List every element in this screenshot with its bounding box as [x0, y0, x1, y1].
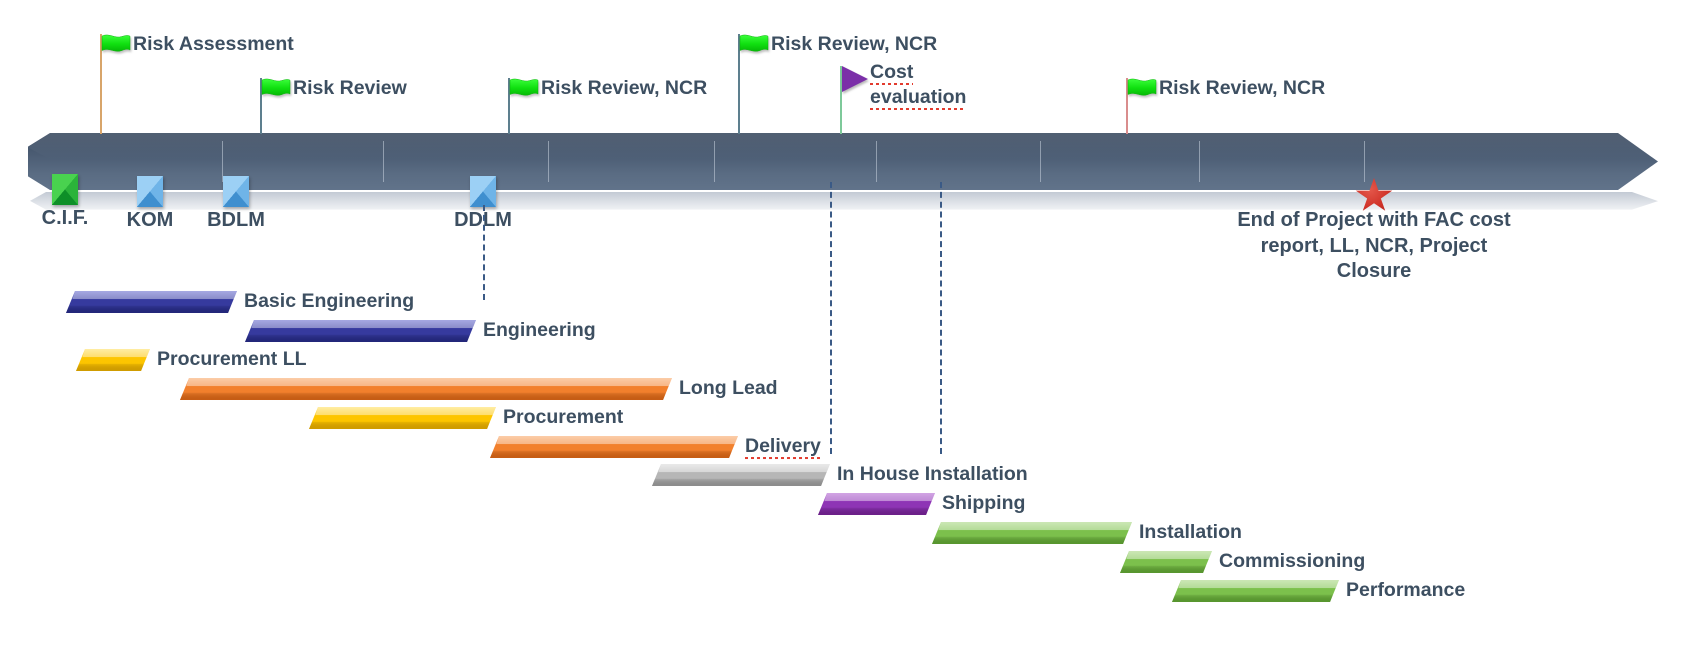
gantt-bar-shape	[818, 493, 935, 515]
end-of-project-marker[interactable]: End of Project with FAC cost report, LL,…	[1355, 178, 1393, 214]
gantt-bar-shadow	[180, 393, 672, 400]
gantt-bar[interactable]: Commissioning	[1120, 551, 1212, 573]
timeline-tick	[383, 141, 384, 182]
gantt-bar-highlight	[66, 291, 237, 299]
end-of-project-label: End of Project with FAC cost report, LL,…	[1224, 208, 1524, 285]
milestone-cif[interactable]: C.I.F.	[52, 174, 78, 205]
milestone-square-green	[52, 174, 78, 205]
ddlm-connector	[483, 205, 485, 300]
gantt-bar[interactable]: Performance	[1172, 580, 1339, 602]
gantt-bar[interactable]: Basic Engineering	[66, 291, 237, 313]
gantt-bar-shape	[180, 378, 672, 400]
flag-icon	[261, 78, 291, 104]
gantt-bar-label: Installation	[1139, 521, 1242, 544]
gantt-bar[interactable]: Shipping	[818, 493, 935, 515]
gantt-bar-label: Procurement LL	[157, 348, 307, 371]
cost-evaluation-label: Cost evaluation	[870, 60, 966, 111]
gantt-bar-shadow	[76, 364, 150, 371]
gantt-bar-highlight	[652, 464, 830, 472]
gantt-bar-highlight	[180, 378, 672, 386]
gantt-bar-label: In House Installation	[837, 463, 1028, 486]
triangle-flag-icon	[842, 66, 868, 92]
gantt-bar-highlight	[932, 522, 1132, 530]
gantt-bar[interactable]: Procurement LL	[76, 349, 150, 371]
timeline-band	[28, 133, 1658, 190]
gantt-bar-label-text: Delivery	[745, 435, 821, 459]
flag-label: Risk Review, NCR	[1159, 76, 1325, 101]
gantt-bar-highlight	[245, 320, 476, 328]
timeline-chart-canvas: Risk AssessmentRisk ReviewRisk Review, N…	[0, 0, 1685, 672]
gantt-bar-shadow	[490, 451, 738, 458]
gantt-bar-label: Engineering	[483, 319, 596, 342]
gantt-bar-shadow	[652, 479, 830, 486]
milestone-label: C.I.F.	[42, 207, 89, 230]
milestone-bdlm[interactable]: BDLM	[223, 176, 249, 207]
cost-evaluation-label-line2: evaluation	[870, 86, 966, 110]
timeline-tick	[1199, 141, 1200, 182]
gantt-bar-label: Commissioning	[1219, 550, 1365, 573]
gantt-bar-shape	[245, 320, 476, 342]
gantt-bar[interactable]: Procurement	[309, 407, 496, 429]
milestone-label: BDLM	[207, 209, 265, 232]
gantt-bar-shadow	[1172, 595, 1339, 602]
gantt-bar[interactable]: In House Installation	[652, 464, 830, 486]
milestone-square-blue	[223, 176, 249, 207]
gantt-bar-shape	[490, 436, 738, 458]
gantt-bar-highlight	[1172, 580, 1339, 588]
gantt-bar-shadow	[932, 537, 1132, 544]
flag-label: Risk Review	[293, 76, 407, 101]
gantt-bar[interactable]: Delivery	[490, 436, 738, 458]
flag-icon	[739, 34, 769, 60]
gantt-bar-label: Delivery	[745, 435, 821, 458]
timeline-band-body	[28, 133, 1658, 190]
gantt-bar-shadow	[818, 508, 935, 515]
milestone-kom[interactable]: KOM	[137, 176, 163, 207]
timeline-tick	[1040, 141, 1041, 182]
timeline-tick	[548, 141, 549, 182]
delivery-connector	[830, 182, 832, 454]
flag-icon	[509, 78, 539, 104]
gantt-bar-shadow	[66, 306, 237, 313]
milestone-square-blue	[470, 176, 496, 207]
gantt-bar-shape	[932, 522, 1132, 544]
shipping-connector	[940, 182, 942, 454]
gantt-bar[interactable]: Installation	[932, 522, 1132, 544]
flag-icon	[101, 34, 131, 60]
timeline-tick	[1364, 141, 1365, 182]
gantt-bar-shape	[76, 349, 150, 371]
cost-evaluation-label-line1: Cost	[870, 61, 913, 85]
milestone-square-blue	[137, 176, 163, 207]
milestone-label: KOM	[127, 209, 174, 232]
gantt-bar-highlight	[309, 407, 496, 415]
gantt-bar-highlight	[818, 493, 935, 501]
gantt-bar-label: Basic Engineering	[244, 290, 414, 313]
gantt-bar[interactable]: Engineering	[245, 320, 476, 342]
gantt-bar-highlight	[76, 349, 150, 357]
gantt-bar-label: Shipping	[942, 492, 1025, 515]
gantt-bar-shape	[652, 464, 830, 486]
gantt-bar-shape	[309, 407, 496, 429]
gantt-bar-highlight	[490, 436, 738, 444]
flag-label: Risk Review, NCR	[771, 32, 937, 57]
timeline-tick	[876, 141, 877, 182]
milestone-ddlm[interactable]: DDLM	[470, 176, 496, 207]
gantt-bar-shadow	[309, 422, 496, 429]
timeline-tick	[714, 141, 715, 182]
gantt-bar-shape	[66, 291, 237, 313]
gantt-bar-shadow	[245, 335, 476, 342]
flag-label: Risk Assessment	[133, 32, 294, 57]
gantt-bar-shape	[1120, 551, 1212, 573]
gantt-bar-label: Procurement	[503, 406, 623, 429]
gantt-bar-highlight	[1120, 551, 1212, 559]
gantt-bar[interactable]: Long Lead	[180, 378, 672, 400]
flag-icon	[1127, 78, 1157, 104]
gantt-bar-shape	[1172, 580, 1339, 602]
gantt-bar-shadow	[1120, 566, 1212, 573]
gantt-bar-label: Performance	[1346, 579, 1465, 602]
gantt-bar-label: Long Lead	[679, 377, 778, 400]
flag-label: Risk Review, NCR	[541, 76, 707, 101]
